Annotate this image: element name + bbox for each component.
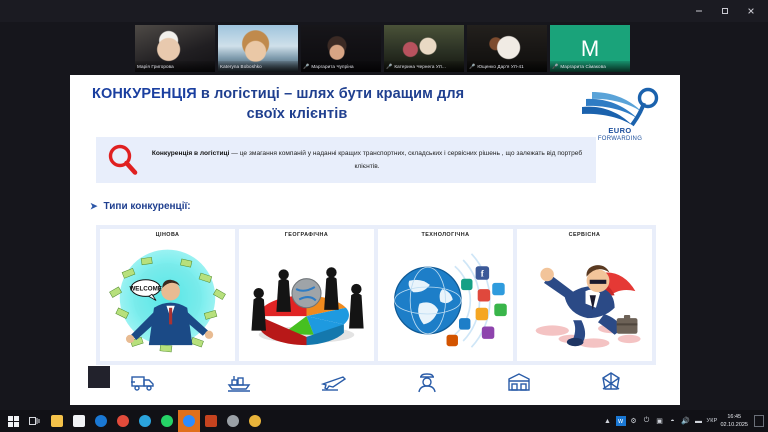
participant-name-bar: 🎤 Маргарита Сімакова [550, 61, 630, 72]
magnifier-icon [106, 143, 140, 177]
participant-tile-active[interactable]: Kateryna Boboshko [218, 25, 298, 72]
clock-date: 02.10.2025 [720, 422, 748, 428]
chrome-button[interactable] [112, 410, 134, 432]
shared-slide: КОНКУРЕНЦІЯ в логістиці – шлях бути кращ… [70, 75, 680, 405]
participant-tile[interactable]: 🎤 Катерина Чернега УЛ... [384, 25, 464, 72]
close-button[interactable] [738, 0, 764, 22]
powerpoint-button[interactable] [200, 410, 222, 432]
card-artwork-businessman-money: WELCOME [100, 240, 235, 361]
participant-tile[interactable]: Марія Григорова [135, 25, 215, 72]
section-heading: ➤ Типи конкуренції: [90, 201, 191, 212]
conference-app-window: Марія Григорова Kateryna Boboshko 🎤 Марг… [0, 0, 768, 410]
window-controls [686, 0, 764, 22]
participant-name-bar: Kateryna Boboshko [218, 61, 298, 72]
start-button[interactable] [2, 410, 24, 432]
microsoft-store-button[interactable] [68, 410, 90, 432]
logistics-icon-strip [96, 365, 656, 399]
participant-name: Kateryna Boboshko [220, 64, 262, 69]
slide-title-rest: в логістиці – шлях бути кращим для [197, 86, 464, 102]
muted-mic-icon: 🎤 [469, 64, 475, 70]
presenter-overlay-square [88, 366, 110, 388]
clock[interactable]: 16:45 02.10.2025 [720, 413, 748, 430]
participant-name: Маргарита Сімакова [560, 64, 606, 69]
tray-volume-icon[interactable]: 🔊 [681, 416, 691, 426]
muted-mic-icon: 🎤 [386, 64, 392, 70]
zoom-button-active[interactable] [178, 410, 200, 432]
participant-name-bar: 🎤 Катерина Чернега УЛ... [384, 61, 464, 72]
muted-mic-icon: 🎤 [303, 64, 309, 70]
file-explorer-button[interactable] [46, 410, 68, 432]
chrome-window-button[interactable] [244, 410, 266, 432]
bullet-arrow-icon: ➤ [90, 201, 98, 212]
participant-name: Маргарита Чупріна [311, 64, 353, 69]
participant-name: Марія Григорова [137, 64, 174, 69]
logo-line-1: EURO [574, 127, 666, 136]
slide-title-keyword: КОНКУРЕНЦІЯ [92, 86, 197, 102]
card-title: ТЕХНОЛОГІЧНА [422, 232, 470, 238]
tray-battery-icon[interactable]: ⏻ [642, 416, 652, 426]
participant-name-bar: 🎤 Ющенко Дар'я УЛ-41 [467, 61, 547, 72]
card-geographic: ГЕОГРАФІЧНА [239, 229, 374, 361]
system-tray: ▲ w ⚙ ⏻ ▣ ◓ 🔊 ▬ УКР 16:45 02.10.2025 [603, 413, 768, 430]
warehouse-icon [507, 372, 531, 392]
slide-title-line2: своїх клієнтів [92, 105, 562, 125]
card-artwork-globe-apps: f [378, 240, 513, 361]
card-price: ЦІНОВА [100, 229, 235, 361]
definition-box: Конкуренція в логістиці — це змагання ко… [96, 137, 596, 183]
competition-types-cards: ЦІНОВА [96, 225, 656, 365]
logistics-network-icon [600, 371, 622, 393]
participant-filmstrip: Марія Григорова Kateryna Boboshko 🎤 Марг… [135, 25, 635, 72]
taskbar-app-list [0, 410, 266, 432]
clock-time: 16:45 [727, 414, 741, 420]
card-technological: ТЕХНОЛОГІЧНА [378, 229, 513, 361]
muted-mic-icon: 🎤 [552, 64, 558, 70]
minimize-button[interactable] [686, 0, 712, 22]
participant-name: Катерина Чернега УЛ... [394, 64, 446, 69]
participant-name-bar: 🎤 Маргарита Чупріна [301, 61, 381, 72]
tray-device-icon[interactable]: ▬ [694, 416, 704, 426]
tray-expand-icon[interactable]: ▲ [603, 416, 613, 426]
definition-text: Конкуренція в логістиці — це змагання ко… [148, 147, 586, 173]
card-artwork-superhero-businessman [517, 240, 652, 361]
tray-settings-icon[interactable]: ⚙ [629, 416, 639, 426]
card-title: ЦІНОВА [156, 232, 180, 238]
maximize-button[interactable] [712, 0, 738, 22]
definition-term: Конкуренція в логістиці [152, 150, 230, 157]
svg-text:WELCOME: WELCOME [129, 286, 161, 293]
truck-icon [131, 372, 157, 392]
customs-officer-icon [416, 371, 438, 393]
windows-taskbar: ▲ w ⚙ ⏻ ▣ ◓ 🔊 ▬ УКР 16:45 02.10.2025 [0, 410, 768, 432]
card-title: ГЕОГРАФІЧНА [285, 232, 328, 238]
participant-name-bar: Марія Григорова [135, 61, 215, 72]
card-title: СЕРВІСНА [569, 232, 601, 238]
card-service: СЕРВІСНА [517, 229, 652, 361]
outlook-button[interactable] [90, 410, 112, 432]
participant-tile[interactable]: M 🎤 Маргарита Сімакова [550, 25, 630, 72]
language-indicator[interactable]: УКР [707, 418, 718, 424]
logo-mark-icon [580, 87, 662, 129]
telegram-button[interactable] [134, 410, 156, 432]
task-view-button[interactable] [24, 410, 46, 432]
whatsapp-button[interactable] [156, 410, 178, 432]
tray-network-icon[interactable]: ◓ [668, 416, 678, 426]
tray-app-icon[interactable]: w [616, 416, 626, 426]
opera-button[interactable] [222, 410, 244, 432]
definition-body: — це змагання компаній у наданні кращих … [229, 150, 582, 170]
airplane-icon [321, 372, 347, 392]
show-desktop-button[interactable] [754, 415, 764, 427]
window-titlebar [0, 0, 768, 22]
card-artwork-pie-chart-globe [239, 240, 374, 361]
participant-tile[interactable]: 🎤 Ющенко Дар'я УЛ-41 [467, 25, 547, 72]
slide-title: КОНКУРЕНЦІЯ в логістиці – шлях бути кращ… [92, 85, 562, 124]
participant-tile[interactable]: 🎤 Маргарита Чупріна [301, 25, 381, 72]
tray-screenshot-icon[interactable]: ▣ [655, 416, 665, 426]
cargo-ship-icon [226, 372, 252, 392]
section-heading-text: Типи конкуренції: [104, 201, 191, 212]
participant-name: Ющенко Дар'я УЛ-41 [477, 64, 523, 69]
